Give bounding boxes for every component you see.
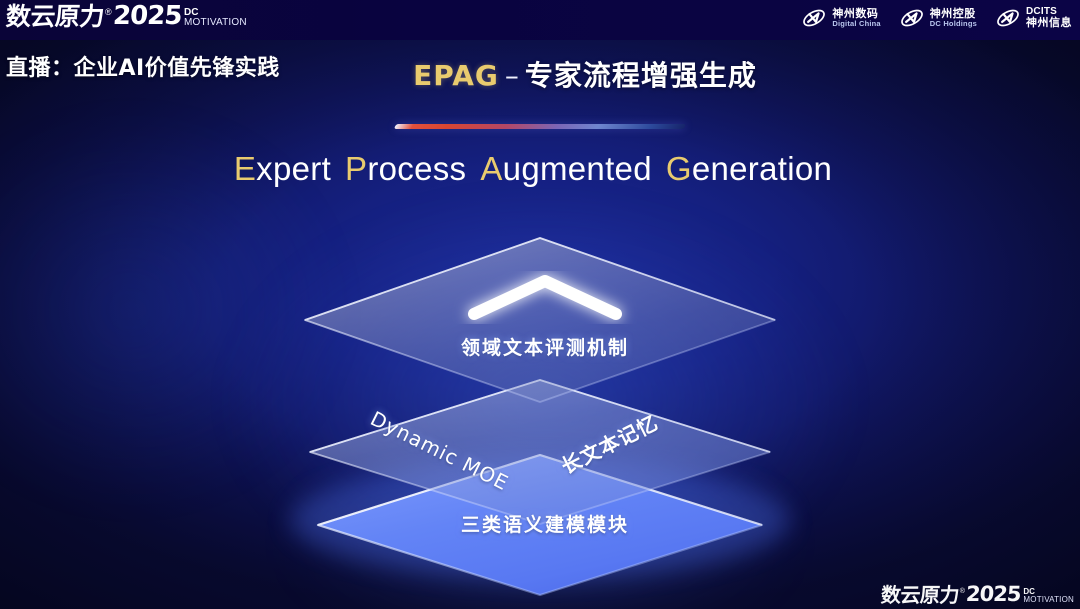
brand-motivation-label: MOTIVATION [184, 18, 247, 28]
partner-logo-dcits: DCITS 神州信息 [995, 5, 1072, 31]
subtitle-word-generation: Generation [666, 150, 832, 187]
brand-dc-motivation: DC MOTIVATION [184, 8, 247, 28]
brand-name-cn: 数云原力 [5, 4, 105, 29]
subtitle-rest-augmented: ugmented [503, 150, 652, 187]
partner-logo-digital-china: 神州数码 Digital China [801, 5, 880, 31]
subtitle-word-augmented: Augmented [480, 150, 652, 187]
swirl-logo-icon [995, 5, 1021, 31]
partner-text-digital-china: 神州数码 Digital China [832, 8, 880, 27]
brand-logo: 数云原力 ® 2025 DC MOTIVATION [6, 3, 247, 29]
swirl-logo-icon [801, 5, 827, 31]
diagram-layer-top [305, 238, 775, 402]
subtitle-word-process: Process [345, 150, 466, 187]
watermark-dc-motivation: DC MOTIVATION [1023, 588, 1074, 604]
subtitle-cap-a: A [480, 150, 502, 187]
partner-en-digital-china: Digital China [832, 20, 880, 28]
watermark-year: 2025 [965, 584, 1021, 605]
footer-watermark-logo: 数云原力 ® 2025 DC MOTIVATION [881, 584, 1074, 605]
watermark-registered-mark: ® [960, 588, 965, 595]
partner-logo-dc-holdings: 神州控股 DC Holdings [899, 5, 977, 31]
title-chinese: 专家流程增强生成 [525, 59, 757, 92]
partner-en-dc-holdings: DC Holdings [930, 20, 977, 28]
title-dash: – [505, 59, 519, 92]
watermark-motivation-label: MOTIVATION [1023, 596, 1074, 604]
subtitle-cap-p: P [345, 150, 367, 187]
slide-subtitle: ExpertProcessAugmentedGeneration [0, 150, 1080, 188]
subtitle-rest-expert: xpert [256, 150, 331, 187]
brand-registered-mark: ® [105, 8, 112, 17]
partner-text-dc-holdings: 神州控股 DC Holdings [930, 8, 977, 27]
partner-cn-dcits: 神州信息 [1026, 17, 1072, 29]
subtitle-rest-process: rocess [367, 150, 466, 187]
subtitle-word-expert: Expert [234, 150, 331, 187]
swirl-logo-icon [899, 5, 925, 31]
partner-logos: 神州数码 Digital China 神州控股 DC Holdings DCIT… [801, 5, 1072, 31]
presentation-slide: 领域文本评测机制 Dynamic MOE 长文本记忆 三类语义建模模块 EPAG… [0, 0, 1080, 609]
brand-year: 2025 [112, 3, 182, 29]
subtitle-cap-g: G [666, 150, 692, 187]
watermark-name-cn: 数云原力 [880, 585, 959, 605]
title-divider [394, 124, 687, 129]
subtitle-cap-e: E [234, 150, 256, 187]
title-acronym: EPAG [413, 59, 499, 92]
partner-text-dcits: DCITS 神州信息 [1026, 7, 1072, 29]
live-stream-title: 直播：企业AI价值先锋实践 [6, 50, 280, 82]
subtitle-rest-generation: eneration [692, 150, 832, 187]
